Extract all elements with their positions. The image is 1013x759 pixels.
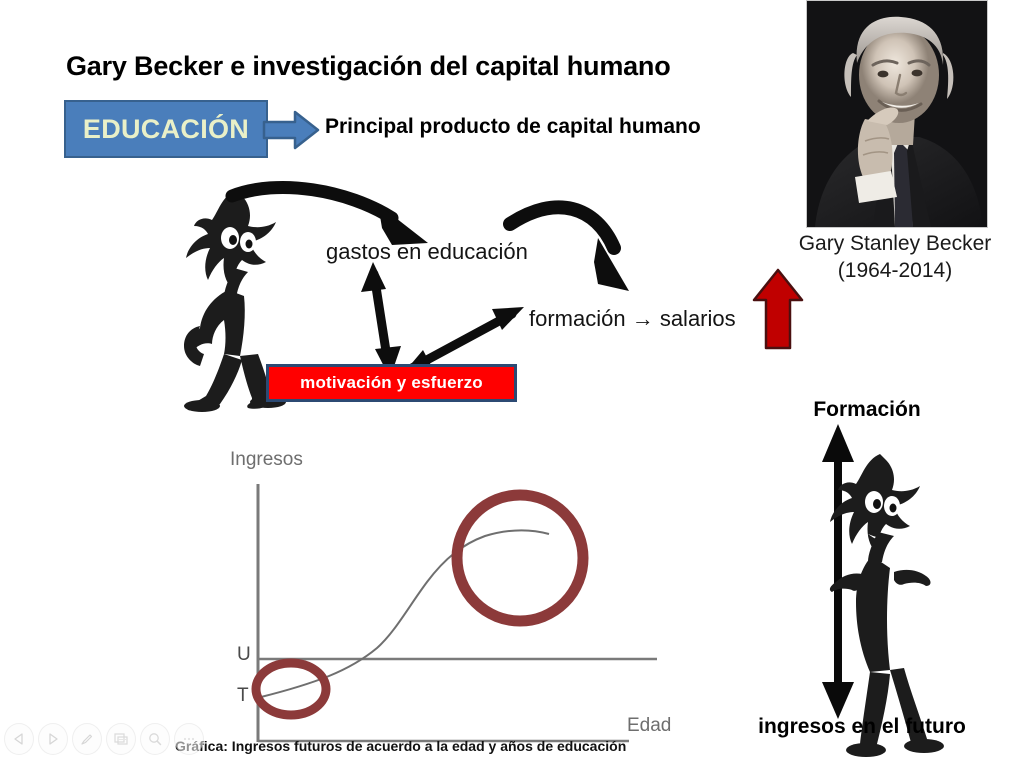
becker-caption: Gary Stanley Becker (1964-2014) [760, 230, 1013, 284]
chart-y-axis-label: Ingresos [230, 449, 303, 471]
becker-caption-line1: Gary Stanley Becker [760, 230, 1013, 257]
previous-slide-button[interactable] [4, 723, 34, 755]
educacion-label: EDUCACIÓN [64, 100, 268, 158]
circle-high-earnings [457, 495, 583, 621]
educacion-block-arrow: EDUCACIÓN [64, 100, 317, 158]
triangle-left-icon [12, 732, 26, 746]
becker-portrait-photo [806, 0, 988, 228]
magnifier-icon [147, 731, 163, 747]
presentation-toolbar[interactable] [4, 720, 204, 758]
ellipsis-icon [181, 731, 197, 747]
chart-svg [205, 440, 695, 750]
stick-figure-right [830, 454, 944, 757]
curved-arrow-to-gastos [232, 187, 428, 245]
principal-producto-text: Principal producto de capital humano [325, 115, 795, 139]
ingresos-edad-chart: Ingresos Edad U T [205, 440, 695, 750]
gastos-en-educacion-label: gastos en educación [326, 239, 528, 265]
pen-icon [79, 731, 95, 747]
grid-icon [113, 731, 129, 747]
page-title: Gary Becker e investigación del capital … [66, 51, 766, 82]
ingresos-en-el-futuro-label: ingresos en el futuro [712, 715, 1012, 739]
right-arrow-icon [262, 110, 320, 150]
formacion-salarios-label: formación → salarios [529, 306, 736, 332]
zoom-button[interactable] [140, 723, 170, 755]
becker-caption-line2: (1964-2014) [760, 257, 1013, 284]
ingresos-curve [261, 530, 549, 697]
chart-x-axis-label: Edad [627, 715, 671, 737]
chart-ytick-t: T [237, 685, 249, 707]
more-options-button[interactable] [174, 723, 204, 755]
triangle-right-icon [46, 732, 60, 746]
slide-layout-button[interactable] [106, 723, 136, 755]
next-slide-button[interactable] [38, 723, 68, 755]
curved-arrow-to-formacion [510, 207, 629, 291]
motivacion-label: motivación y esfuerzo [300, 373, 483, 393]
pen-tool-button[interactable] [72, 723, 102, 755]
motivacion-y-esfuerzo-box: motivación y esfuerzo [266, 364, 517, 402]
double-arrow-gastos-motivacion [361, 262, 401, 378]
chart-caption: Gráfica: Ingresos futuros de acuerdo a l… [175, 738, 695, 754]
chart-ytick-u: U [237, 644, 251, 666]
formacion-label: Formación [752, 398, 982, 422]
double-headed-vertical-arrow [822, 424, 854, 719]
